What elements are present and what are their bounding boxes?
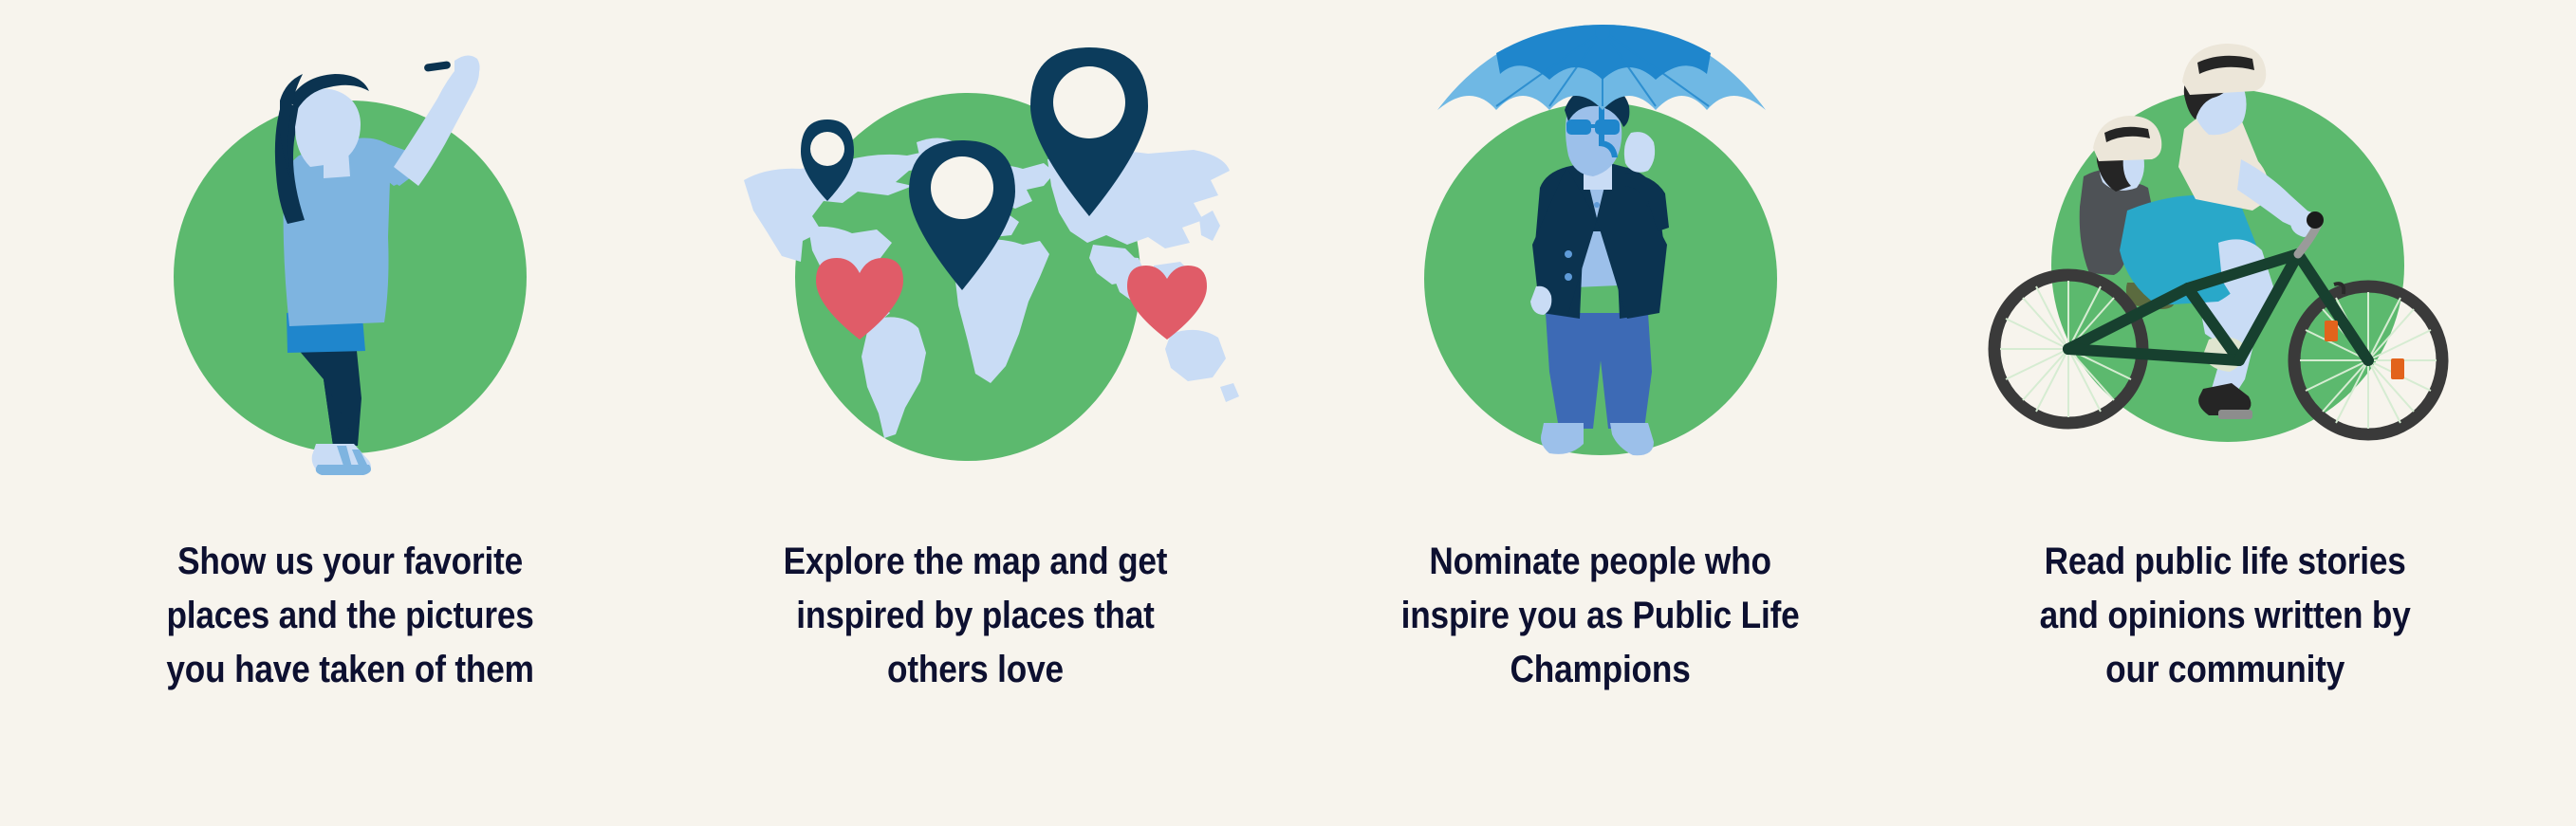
feature-card-share-places[interactable]: Show us your favorite places and the pic… <box>38 0 663 826</box>
feature-caption-read-stories: Read public life stories and opinions wr… <box>2040 535 2411 698</box>
hand-holding-umbrella <box>1624 132 1655 173</box>
caption-line: you have taken of them <box>167 643 534 697</box>
hand <box>454 55 480 83</box>
feature-card-explore-map[interactable]: Explore the map and get inspired by plac… <box>663 0 1288 826</box>
caption-line: Champions <box>1401 643 1800 697</box>
caption-line: Nominate people who <box>1401 535 1800 589</box>
caption-line: others love <box>784 643 1168 697</box>
caption-line: places and the pictures <box>167 589 534 643</box>
world-map-with-location-pins-illustration <box>663 0 1288 531</box>
caption-line: our community <box>2040 643 2411 697</box>
caption-line: inspired by places that <box>784 589 1168 643</box>
reflector-upper <box>2325 321 2338 341</box>
caption-line: Read public life stories <box>2040 535 2411 589</box>
caption-line: and opinions written by <box>2040 589 2411 643</box>
feature-caption-share-places: Show us your favorite places and the pic… <box>167 535 534 698</box>
person-taking-selfie-illustration <box>38 0 663 531</box>
reflector-lower <box>2391 358 2404 379</box>
feature-card-nominate-champions[interactable]: Nominate people who inspire you as Publi… <box>1288 0 1914 826</box>
pedal <box>2218 410 2252 419</box>
umbrella-canopy <box>1437 25 1766 110</box>
jacket-button-lower <box>1565 273 1572 281</box>
feature-caption-nominate-champions: Nominate people who inspire you as Publi… <box>1401 535 1800 698</box>
jacket-button-upper <box>1565 250 1572 258</box>
feature-highlights-row: Show us your favorite places and the pic… <box>0 0 2576 826</box>
feature-card-read-stories[interactable]: Read public life stories and opinions wr… <box>1913 0 2538 826</box>
caption-line: inspire you as Public Life <box>1401 589 1800 643</box>
caption-line: Show us your favorite <box>167 535 534 589</box>
neck <box>324 150 350 178</box>
child-helmet <box>2093 116 2161 161</box>
smartphone <box>424 61 452 72</box>
feature-caption-explore-map: Explore the map and get inspired by plac… <box>784 535 1168 698</box>
caption-line: Explore the map and get <box>784 535 1168 589</box>
person-with-umbrella-illustration <box>1288 0 1914 531</box>
woman-cycling-with-child-illustration <box>1913 0 2538 531</box>
